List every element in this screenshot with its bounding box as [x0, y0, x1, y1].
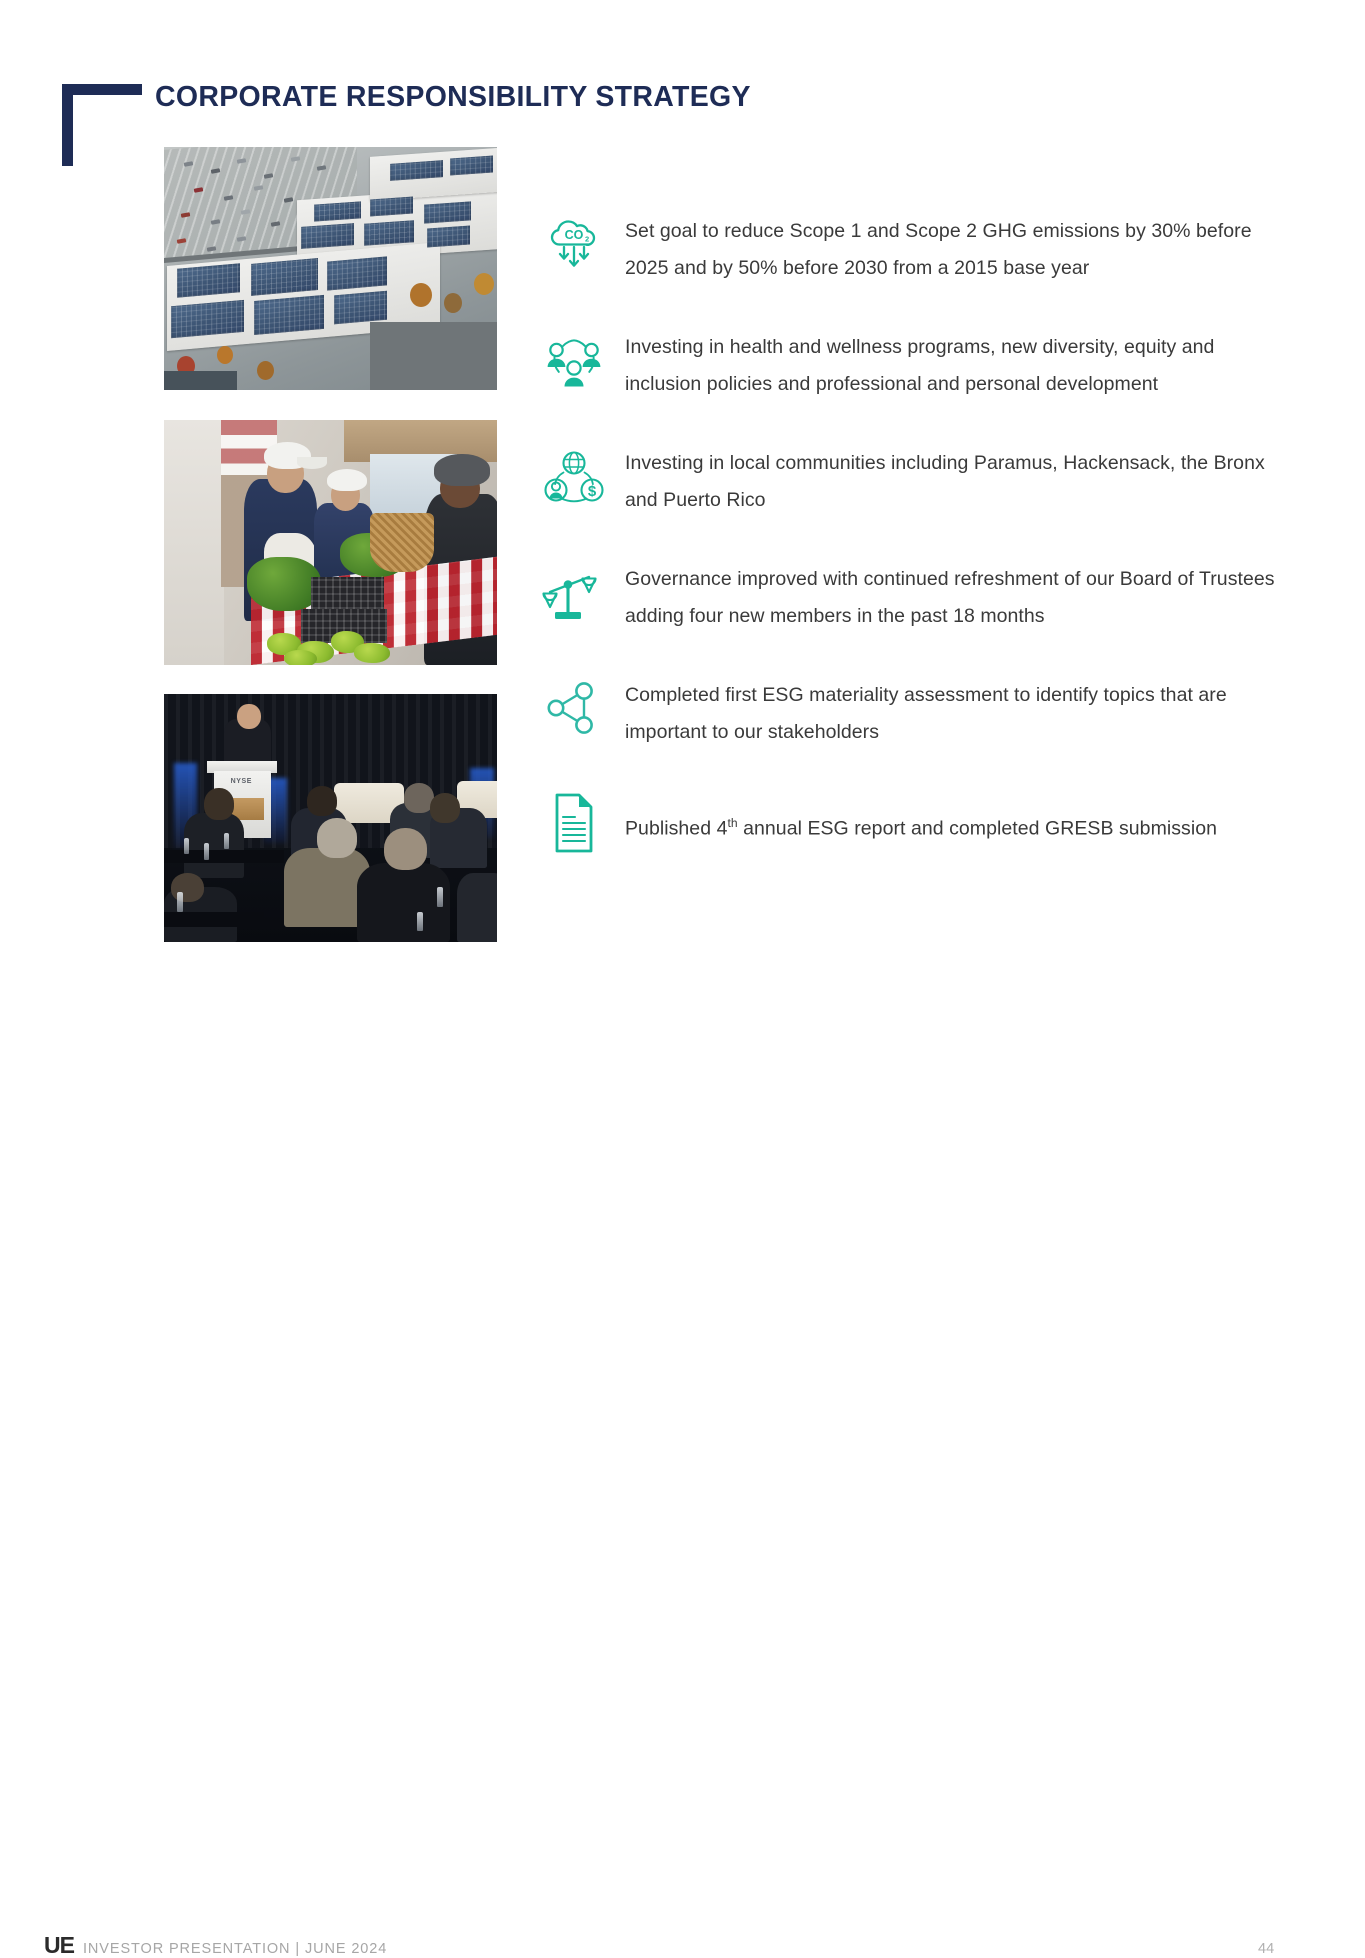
footer-presentation-label: INVESTOR PRESENTATION | JUNE 2024	[83, 1941, 387, 1957]
bullet-item-community: $ Investing in local communities includi…	[535, 445, 1280, 519]
esg-report-text-before: Published 4	[625, 818, 727, 840]
bullet-text-people: Investing in health and wellness program…	[613, 329, 1280, 403]
strategy-bullet-list: CO 2 Set goal to reduce Scope 1 and Scop…	[535, 213, 1280, 855]
people-network-diversity-icon	[535, 329, 613, 391]
bullet-item-materiality: Completed first ESG materiality assessme…	[535, 677, 1280, 751]
photo-column: NYSE	[164, 147, 497, 942]
community-food-distribution-photo	[164, 420, 497, 665]
bullet-text-esg-report: Published 4th annual ESG report and comp…	[613, 791, 1217, 848]
slide-root: CORPORATE RESPONSIBILITY STRATEGY	[0, 0, 1365, 1055]
esg-report-ordinal-suffix: th	[727, 816, 737, 830]
dollar-sign-glyph: $	[588, 483, 597, 500]
bullet-item-people: Investing in health and wellness program…	[535, 329, 1280, 403]
bullet-item-esg-report: Published 4th annual ESG report and comp…	[535, 791, 1280, 855]
bullet-text-emissions: Set goal to reduce Scope 1 and Scope 2 G…	[613, 213, 1280, 287]
bullet-text-materiality: Completed first ESG materiality assessme…	[613, 677, 1280, 751]
slide-footer: UE INVESTOR PRESENTATION | JUNE 2024 44	[0, 962, 1365, 1008]
nyse-conference-presentation-photo: NYSE	[164, 694, 497, 942]
ue-logo: UE	[44, 1932, 78, 1958]
bullet-text-governance: Governance improved with continued refre…	[613, 561, 1280, 635]
esg-report-text-after: annual ESG report and completed GRESB su…	[738, 818, 1217, 840]
footer-page-number: 44	[1258, 1941, 1274, 1957]
co2-cloud-reduction-icon: CO 2	[535, 213, 613, 277]
bullet-item-governance: Governance improved with continued refre…	[535, 561, 1280, 635]
co2-icon-subscript: 2	[585, 235, 589, 244]
share-network-nodes-icon	[535, 677, 613, 737]
globe-person-money-community-icon: $	[535, 445, 613, 507]
page-title: CORPORATE RESPONSIBILITY STRATEGY	[155, 81, 751, 114]
co2-icon-label: CO	[565, 228, 584, 242]
document-report-icon	[535, 791, 613, 855]
aerial-solar-rooftop-photo	[164, 147, 497, 390]
balance-scales-governance-icon	[535, 561, 613, 625]
title-corner-bracket	[62, 84, 142, 166]
bullet-text-community: Investing in local communities including…	[613, 445, 1280, 519]
bullet-item-emissions: CO 2 Set goal to reduce Scope 1 and Scop…	[535, 213, 1280, 287]
